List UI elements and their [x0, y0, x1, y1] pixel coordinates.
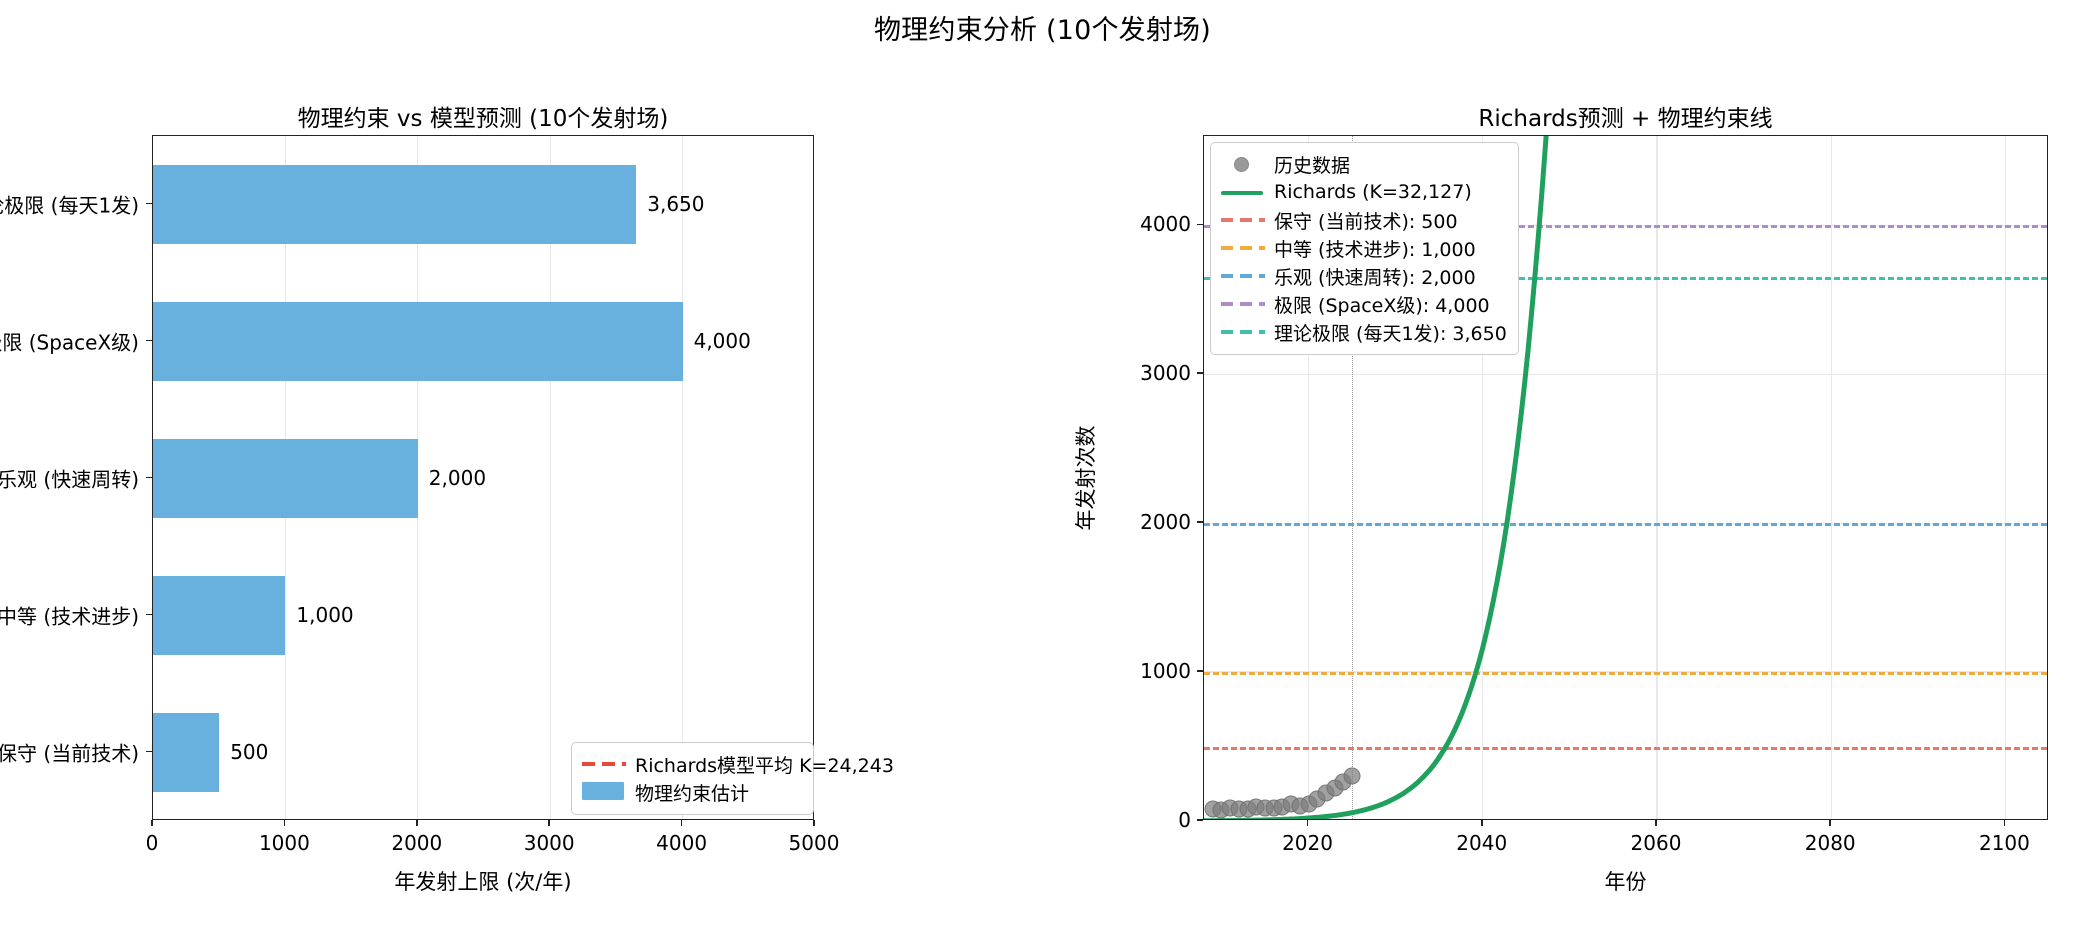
legend-item[interactable]: 极限 (SpaceX级): 4,000 [1221, 290, 1507, 318]
x-tick-mark [1307, 820, 1309, 826]
x-tick-label: 1000 [259, 831, 310, 855]
y-tick-mark [1197, 819, 1203, 821]
legend-swatch-2 [1221, 210, 1263, 230]
legend-item-label: 历史数据 [1274, 151, 1350, 178]
legend-dash-line [1221, 302, 1265, 306]
y-tick-label-0: 保守 (当前技术) [0, 737, 139, 766]
x-tick-mark [548, 820, 550, 826]
x-tick-mark [813, 820, 815, 826]
right-y-axis-label: 年发射次数 [1070, 425, 1100, 530]
x-tick-label: 2100 [1979, 831, 2030, 855]
legend-swatch-5 [1221, 294, 1263, 314]
bar-1 [153, 576, 285, 655]
y-tick-label: 0 [1178, 808, 1191, 832]
bar-4 [153, 165, 636, 244]
bar-3 [153, 302, 683, 381]
figure-suptitle: 物理约束分析 (10个发射场) [0, 8, 2085, 47]
legend-dash-line [1221, 246, 1265, 250]
left-x-axis-label: 年发射上限 (次/年) [152, 866, 814, 896]
x-tick-label: 0 [146, 831, 159, 855]
legend-item[interactable]: Richards模型平均 K=24,243 [582, 750, 802, 778]
legend-solid-line [1221, 191, 1263, 195]
legend-marker-dot [1234, 157, 1249, 172]
legend-item[interactable]: 历史数据 [1221, 150, 1507, 178]
y-tick-label-4: 理论极限 (每天1发) [0, 189, 139, 218]
bar-0 [153, 713, 219, 792]
x-tick-label: 5000 [789, 831, 840, 855]
x-tick-label: 2080 [1805, 831, 1856, 855]
x-tick-mark [1829, 820, 1831, 826]
right-chart-legend: 历史数据Richards (K=32,127)保守 (当前技术): 500中等 … [1210, 142, 1519, 355]
bar-value-label: 500 [230, 740, 268, 764]
legend-item-label: Richards模型平均 K=24,243 [635, 751, 894, 778]
historical-data-point [1344, 768, 1361, 785]
y-tick-mark [1197, 372, 1203, 374]
legend-dash-line [1221, 218, 1265, 222]
legend-item[interactable]: Richards (K=32,127) [1221, 178, 1507, 206]
x-tick-mark [2004, 820, 2006, 826]
x-tick-mark [151, 820, 153, 826]
legend-item[interactable]: 理论极限 (每天1发): 3,650 [1221, 318, 1507, 346]
legend-swatch-6 [1221, 322, 1263, 342]
left-chart-legend: Richards模型平均 K=24,243物理约束估计 [571, 742, 814, 815]
legend-dash-line [1221, 274, 1265, 278]
legend-swatch-4 [1221, 266, 1263, 286]
bar-value-label: 3,650 [647, 192, 704, 216]
x-tick-mark [1481, 820, 1483, 826]
legend-swatch-3 [1221, 238, 1263, 258]
x-tick-label: 2020 [1282, 831, 1333, 855]
legend-item-label: 保守 (当前技术): 500 [1274, 207, 1458, 234]
right-chart-title: Richards预测 + 物理约束线 [1203, 99, 2048, 133]
x-tick-label: 4000 [656, 831, 707, 855]
bar-2 [153, 439, 418, 518]
y-tick-mark [1197, 521, 1203, 523]
bar-value-label: 1,000 [296, 603, 353, 627]
y-tick-mark [146, 340, 152, 342]
x-tick-label: 2000 [391, 831, 442, 855]
right-x-axis-label: 年份 [1203, 866, 2048, 896]
legend-item-label: Richards (K=32,127) [1274, 181, 1472, 203]
legend-dash-line [1221, 330, 1265, 334]
left-chart-title: 物理约束 vs 模型预测 (10个发射场) [152, 99, 814, 133]
y-tick-label-2: 乐观 (快速周转) [0, 463, 139, 492]
legend-item-label: 理论极限 (每天1发): 3,650 [1274, 319, 1507, 346]
legend-item[interactable]: 中等 (技术进步): 1,000 [1221, 234, 1507, 262]
legend-item[interactable]: 保守 (当前技术): 500 [1221, 206, 1507, 234]
legend-color-patch [582, 782, 624, 800]
legend-swatch-0 [1221, 154, 1263, 174]
figure-canvas: 物理约束分析 (10个发射场) 物理约束 vs 模型预测 (10个发射场) 01… [0, 0, 2085, 925]
legend-swatch-1 [582, 782, 624, 802]
legend-item-label: 极限 (SpaceX级): 4,000 [1274, 291, 1490, 318]
y-tick-mark [1197, 224, 1203, 226]
legend-item-label: 物理约束估计 [635, 779, 749, 806]
legend-swatch-1 [1221, 182, 1263, 202]
legend-item-label: 中等 (技术进步): 1,000 [1274, 235, 1476, 262]
x-tick-label: 2060 [1631, 831, 1682, 855]
y-tick-label-1: 中等 (技术进步) [0, 600, 139, 629]
y-tick-mark [146, 477, 152, 479]
y-tick-label: 1000 [1140, 659, 1191, 683]
y-tick-label: 4000 [1140, 212, 1191, 236]
legend-item[interactable]: 乐观 (快速周转): 2,000 [1221, 262, 1507, 290]
y-tick-mark [146, 614, 152, 616]
gridline-vertical [682, 136, 683, 819]
legend-item-label: 乐观 (快速周转): 2,000 [1274, 263, 1476, 290]
x-tick-mark [284, 820, 286, 826]
legend-dash-line [582, 762, 626, 766]
y-tick-mark [1197, 670, 1203, 672]
y-tick-label-3: 极限 (SpaceX级) [0, 326, 139, 355]
y-tick-mark [146, 751, 152, 753]
y-tick-label: 3000 [1140, 361, 1191, 385]
x-tick-mark [1655, 820, 1657, 826]
legend-swatch-0 [582, 754, 624, 774]
y-tick-mark [146, 203, 152, 205]
x-tick-mark [416, 820, 418, 826]
bar-value-label: 4,000 [694, 329, 751, 353]
x-tick-mark [681, 820, 683, 826]
legend-item[interactable]: 物理约束估计 [582, 778, 802, 806]
bar-value-label: 2,000 [429, 466, 486, 490]
y-tick-label: 2000 [1140, 510, 1191, 534]
x-tick-label: 3000 [524, 831, 575, 855]
x-tick-label: 2040 [1456, 831, 1507, 855]
